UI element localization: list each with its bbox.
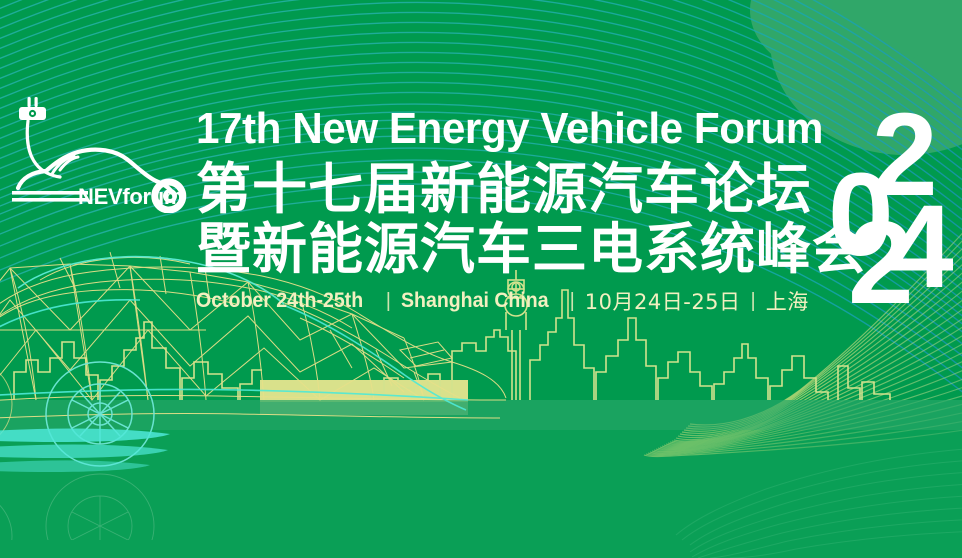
event-meta-row: October 24th-25th | Shanghai China | 10月… — [196, 286, 836, 316]
meta-separator-1: | — [376, 290, 401, 313]
event-poster: NEVforum 17th New Energy Vehicle Forum 第… — [0, 0, 962, 558]
event-date-english: October 24th-25th — [196, 289, 363, 313]
headline-block: 17th New Energy Vehicle Forum 第十七届新能源汽车论… — [196, 104, 836, 316]
meta-separator-3: | — [741, 290, 766, 313]
event-location-english: Shanghai China — [401, 289, 549, 313]
water-reflection — [0, 400, 962, 558]
logo-wordmark: NEVforum — [78, 184, 183, 209]
year-2024: 2 0 2 4 — [836, 108, 956, 316]
title-chinese-line-2: 暨新能源汽车三电系统峰会 — [196, 218, 836, 280]
light-streak — [0, 429, 170, 473]
title-english: 17th New Energy Vehicle Forum — [196, 104, 810, 154]
meta-separator-2: | — [560, 290, 585, 313]
title-chinese-line-1: 第十七届新能源汽车论坛 — [196, 158, 836, 220]
event-location-chinese: 上海 — [766, 286, 809, 316]
event-date-chinese: 10月24日-25日 — [585, 286, 741, 316]
logo[interactable]: NEVforum — [4, 78, 194, 213]
charging-plug-icon — [19, 97, 46, 120]
year-digit-4: 4 — [888, 188, 954, 306]
ground-line-icon — [12, 191, 88, 202]
